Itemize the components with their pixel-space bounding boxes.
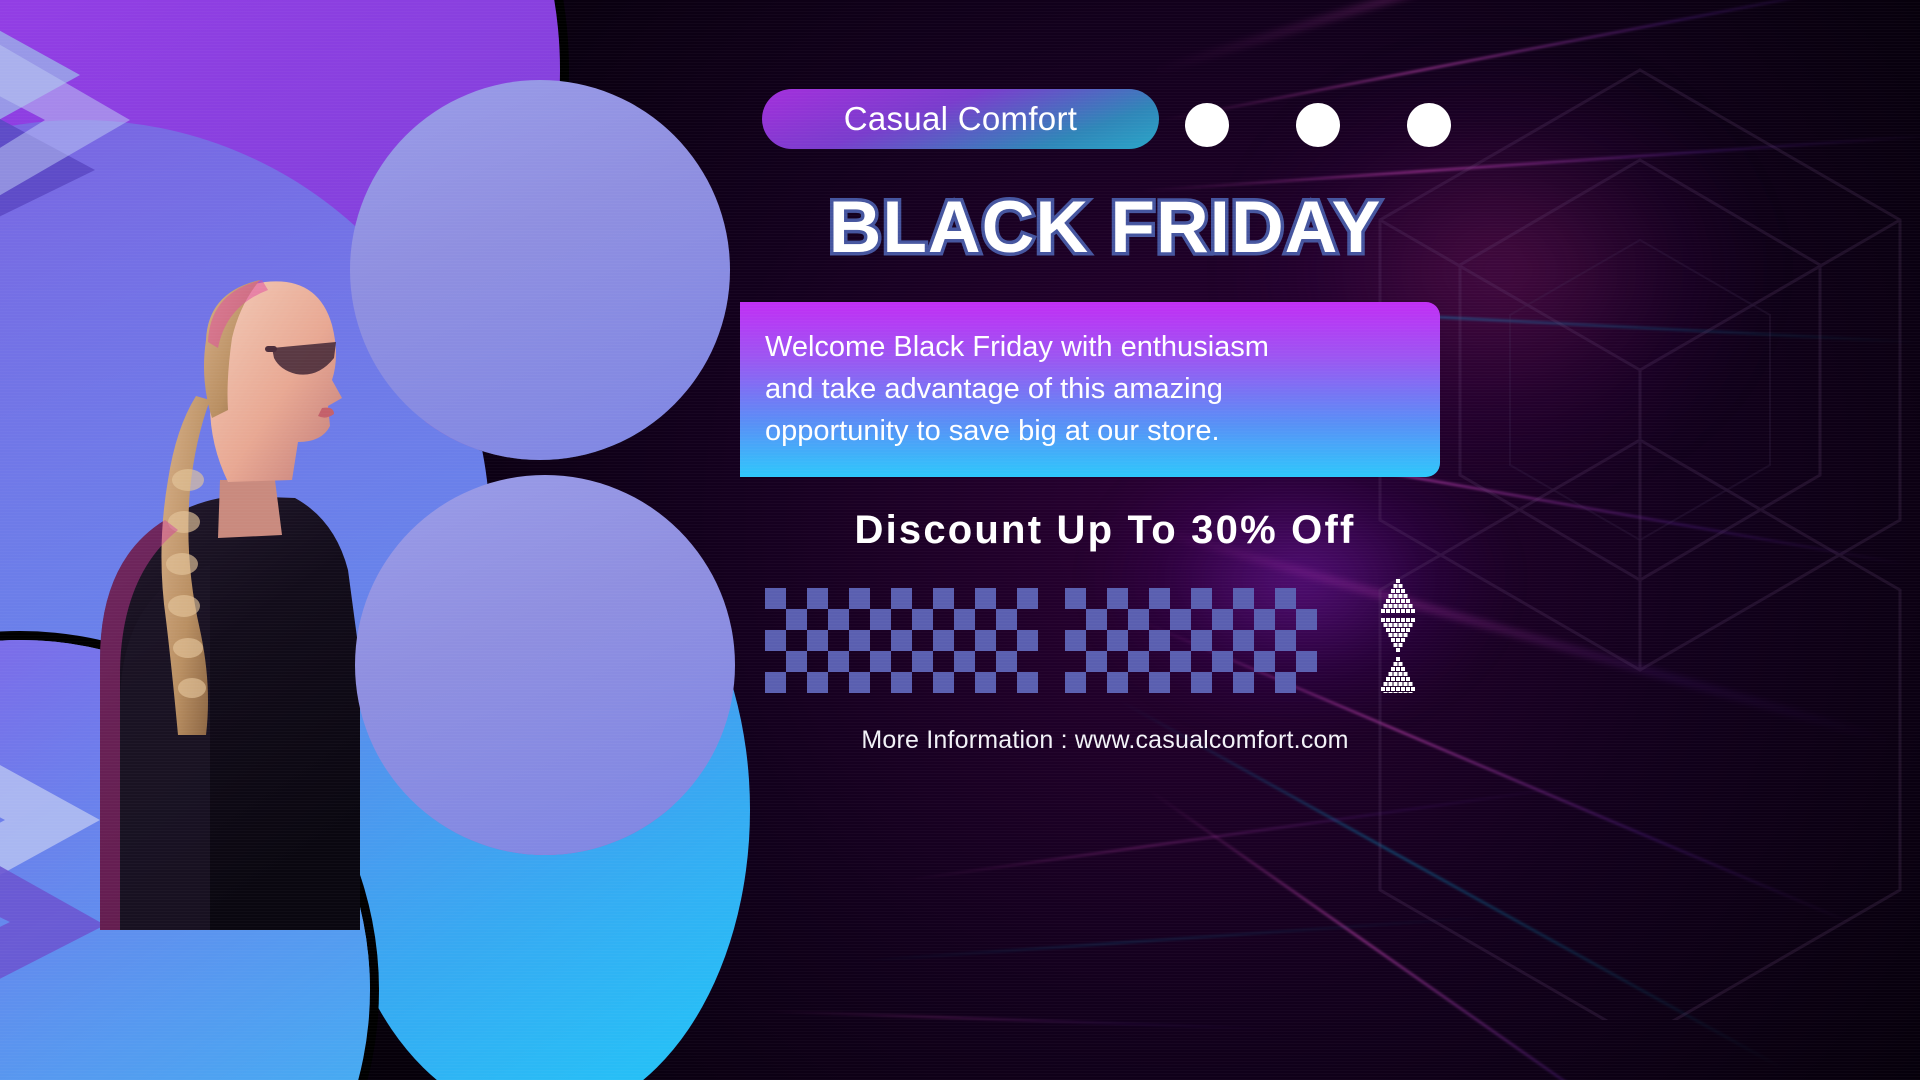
- checker-cell: [1254, 651, 1275, 672]
- dot-decoration-group: [1185, 103, 1451, 147]
- checker-cell: [1017, 630, 1038, 651]
- white-dot-icon: [1185, 103, 1229, 147]
- checker-cell: [1065, 630, 1086, 651]
- checker-cell: [1128, 609, 1149, 630]
- checker-cell: [1275, 588, 1296, 609]
- checker-cell: [912, 630, 933, 651]
- checker-row: [1065, 672, 1317, 693]
- checker-cell: [1296, 630, 1317, 651]
- more-information-text: More Information : www.casualcomfort.com: [760, 726, 1450, 755]
- checker-cell: [891, 588, 912, 609]
- checker-cell: [1233, 588, 1254, 609]
- checker-cell: [828, 672, 849, 693]
- description-panel: Welcome Black Friday with enthusiasm and…: [740, 302, 1440, 477]
- checker-cell: [1107, 651, 1128, 672]
- portrait-background-bottom: [355, 475, 735, 855]
- page-title: BLACK FRIDAY: [760, 191, 1450, 265]
- checker-cell: [1170, 588, 1191, 609]
- checker-cell: [891, 672, 912, 693]
- checker-cell: [954, 609, 975, 630]
- checker-cell: [849, 672, 870, 693]
- description-line-2: and take advantage of this amazing: [765, 368, 1405, 410]
- checker-cell: [954, 588, 975, 609]
- checker-cell: [933, 609, 954, 630]
- checker-cell: [870, 630, 891, 651]
- checker-cell: [912, 672, 933, 693]
- checker-cell: [1107, 609, 1128, 630]
- checker-cell: [807, 609, 828, 630]
- checker-cell: [1128, 630, 1149, 651]
- checker-cell: [1296, 651, 1317, 672]
- checkerboard-left: [765, 588, 1038, 693]
- checker-cell: [912, 588, 933, 609]
- description-line-3: opportunity to save big at our store.: [765, 410, 1405, 452]
- checker-cell: [870, 609, 891, 630]
- checker-cell: [1086, 588, 1107, 609]
- checker-cell: [996, 630, 1017, 651]
- content-column: Casual Comfort BLACK FRIDAY Welcome Blac…: [755, 0, 1920, 1080]
- checker-cell: [1149, 630, 1170, 651]
- checker-cell: [891, 651, 912, 672]
- checker-cell: [1275, 651, 1296, 672]
- brand-badge[interactable]: Casual Comfort: [762, 89, 1159, 149]
- checker-cell: [828, 588, 849, 609]
- checker-cell: [1128, 672, 1149, 693]
- checker-cell: [891, 609, 912, 630]
- portrait-circle-top: [350, 80, 730, 460]
- checker-cell: [975, 672, 996, 693]
- checker-cell: [1275, 609, 1296, 630]
- checker-row: [765, 609, 1038, 630]
- checker-cell: [786, 609, 807, 630]
- checker-cell: [1254, 630, 1275, 651]
- checker-cell: [1086, 651, 1107, 672]
- checker-cell: [1107, 672, 1128, 693]
- checker-cell: [849, 630, 870, 651]
- checker-cell: [954, 672, 975, 693]
- checker-cell: [1086, 672, 1107, 693]
- checker-cell: [933, 630, 954, 651]
- checker-cell: [975, 630, 996, 651]
- checker-cell: [1233, 630, 1254, 651]
- checker-cell: [765, 588, 786, 609]
- checker-cell: [1149, 609, 1170, 630]
- checker-cell: [1170, 651, 1191, 672]
- checker-cell: [912, 651, 933, 672]
- diamond-dot-icon: [1363, 573, 1433, 693]
- checker-cell: [1296, 609, 1317, 630]
- checker-cell: [933, 672, 954, 693]
- checker-cell: [975, 651, 996, 672]
- checker-cell: [1254, 588, 1275, 609]
- checker-cell: [807, 672, 828, 693]
- checker-row: [765, 672, 1038, 693]
- checker-cell: [1086, 609, 1107, 630]
- checker-cell: [1191, 630, 1212, 651]
- checker-cell: [1065, 609, 1086, 630]
- checker-cell: [1212, 609, 1233, 630]
- checker-row: [1065, 630, 1317, 651]
- checker-cell: [996, 609, 1017, 630]
- checker-cell: [828, 651, 849, 672]
- checker-cell: [1233, 672, 1254, 693]
- checker-cell: [807, 588, 828, 609]
- checker-cell: [1149, 651, 1170, 672]
- checker-cell: [1296, 588, 1317, 609]
- checker-cell: [1191, 588, 1212, 609]
- checker-cell: [1065, 651, 1086, 672]
- checker-cell: [849, 609, 870, 630]
- checker-cell: [765, 630, 786, 651]
- checker-cell: [933, 588, 954, 609]
- checker-cell: [765, 651, 786, 672]
- checker-cell: [1254, 609, 1275, 630]
- portrait-circle-bottom: [355, 475, 735, 855]
- checker-cell: [870, 588, 891, 609]
- description-text: Welcome Black Friday with enthusiasm and…: [765, 326, 1405, 452]
- checker-cell: [786, 651, 807, 672]
- checker-cell: [1212, 672, 1233, 693]
- checker-cell: [1233, 609, 1254, 630]
- checkerboard-right: [1065, 588, 1317, 693]
- checker-cell: [1086, 630, 1107, 651]
- checker-cell: [1296, 672, 1317, 693]
- banner-canvas: Casual Comfort BLACK FRIDAY Welcome Blac…: [0, 0, 1920, 1080]
- checker-cell: [807, 651, 828, 672]
- checker-cell: [828, 630, 849, 651]
- checker-cell: [1254, 672, 1275, 693]
- checker-cell: [765, 672, 786, 693]
- checker-cell: [1149, 588, 1170, 609]
- checker-cell: [1107, 630, 1128, 651]
- checker-cell: [1191, 609, 1212, 630]
- checker-row: [765, 630, 1038, 651]
- checker-cell: [765, 609, 786, 630]
- checker-cell: [1017, 672, 1038, 693]
- checker-cell: [1065, 588, 1086, 609]
- white-dot-icon: [1407, 103, 1451, 147]
- checker-cell: [807, 630, 828, 651]
- checker-cell: [1128, 651, 1149, 672]
- checker-cell: [1212, 588, 1233, 609]
- checker-row: [1065, 651, 1317, 672]
- checker-cell: [849, 651, 870, 672]
- checker-cell: [1149, 672, 1170, 693]
- checker-cell: [1275, 630, 1296, 651]
- checker-cell: [1017, 588, 1038, 609]
- portrait-background-top: [350, 80, 730, 460]
- checker-cell: [1128, 588, 1149, 609]
- checker-cell: [870, 651, 891, 672]
- checker-cell: [996, 651, 1017, 672]
- checker-cell: [1191, 651, 1212, 672]
- brand-badge-label: Casual Comfort: [844, 100, 1077, 138]
- checker-row: [1065, 609, 1317, 630]
- checker-cell: [870, 672, 891, 693]
- discount-headline: Discount Up To 30% Off: [760, 508, 1450, 553]
- checker-cell: [1212, 651, 1233, 672]
- checker-cell: [954, 651, 975, 672]
- checker-cell: [1233, 651, 1254, 672]
- description-line-1: Welcome Black Friday with enthusiasm: [765, 326, 1405, 368]
- checker-cell: [975, 588, 996, 609]
- checker-cell: [975, 609, 996, 630]
- checker-cell: [1191, 672, 1212, 693]
- checker-cell: [954, 630, 975, 651]
- checker-cell: [996, 672, 1017, 693]
- checker-cell: [828, 609, 849, 630]
- checker-row: [1065, 588, 1317, 609]
- checker-cell: [891, 630, 912, 651]
- checker-cell: [1017, 651, 1038, 672]
- checker-cell: [1065, 672, 1086, 693]
- checker-cell: [1212, 630, 1233, 651]
- checker-row: [765, 651, 1038, 672]
- checker-cell: [912, 609, 933, 630]
- checker-cell: [1170, 609, 1191, 630]
- checker-cell: [933, 651, 954, 672]
- checker-cell: [1170, 672, 1191, 693]
- checker-cell: [1170, 630, 1191, 651]
- checker-cell: [1275, 672, 1296, 693]
- checker-cell: [786, 672, 807, 693]
- white-dot-icon: [1296, 103, 1340, 147]
- checker-cell: [1107, 588, 1128, 609]
- checker-cell: [786, 630, 807, 651]
- checker-cell: [786, 588, 807, 609]
- checker-cell: [996, 588, 1017, 609]
- checker-cell: [849, 588, 870, 609]
- checker-cell: [1017, 609, 1038, 630]
- checker-row: [765, 588, 1038, 609]
